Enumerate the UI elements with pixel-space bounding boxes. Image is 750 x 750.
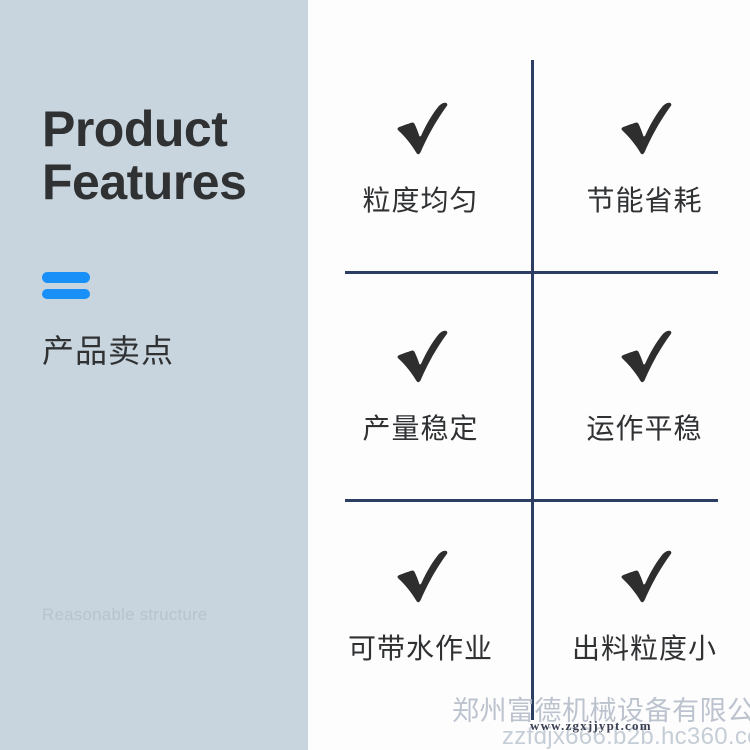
page-title-line-2: Features <box>42 156 292 209</box>
check-mark-icon <box>390 100 452 162</box>
feature-cell: 可带水作业 <box>310 548 531 666</box>
check-mark-icon <box>390 548 452 610</box>
equals-accent-icon <box>42 272 90 299</box>
feature-cell: 运作平稳 <box>534 328 750 446</box>
check-mark-icon <box>614 100 676 162</box>
watermark-url-small: www.zgxjjypt.com <box>530 718 652 733</box>
left-title-panel: Product Features 产品卖点 Reasonable structu… <box>0 0 308 750</box>
page-subtitle: 产品卖点 <box>42 331 174 371</box>
panel-footnote: Reasonable structure <box>42 604 208 626</box>
feature-cell: 出料粒度小 <box>534 548 750 666</box>
feature-label: 运作平稳 <box>586 412 702 446</box>
feature-grid: 粒度均匀 节能省耗 产量稳定 运作平稳 <box>308 0 750 750</box>
accent-bar-bottom <box>42 289 90 299</box>
feature-label: 产量稳定 <box>362 412 478 446</box>
page-title-line-1: Product <box>42 103 292 156</box>
page-title: Product Features <box>42 103 292 209</box>
product-features-banner: Product Features 产品卖点 Reasonable structu… <box>0 0 750 750</box>
feature-label: 粒度均匀 <box>362 184 478 218</box>
feature-label: 出料粒度小 <box>572 632 717 666</box>
feature-cell: 节能省耗 <box>534 100 750 218</box>
feature-cell: 粒度均匀 <box>310 100 531 218</box>
feature-grid-area: 粒度均匀 节能省耗 产量稳定 运作平稳 <box>308 0 750 750</box>
accent-bar-top <box>42 272 90 283</box>
feature-cell: 产量稳定 <box>310 328 531 446</box>
feature-label: 节能省耗 <box>586 184 702 218</box>
check-mark-icon <box>390 328 452 390</box>
check-mark-icon <box>614 328 676 390</box>
feature-label: 可带水作业 <box>348 632 493 666</box>
check-mark-icon <box>614 548 676 610</box>
